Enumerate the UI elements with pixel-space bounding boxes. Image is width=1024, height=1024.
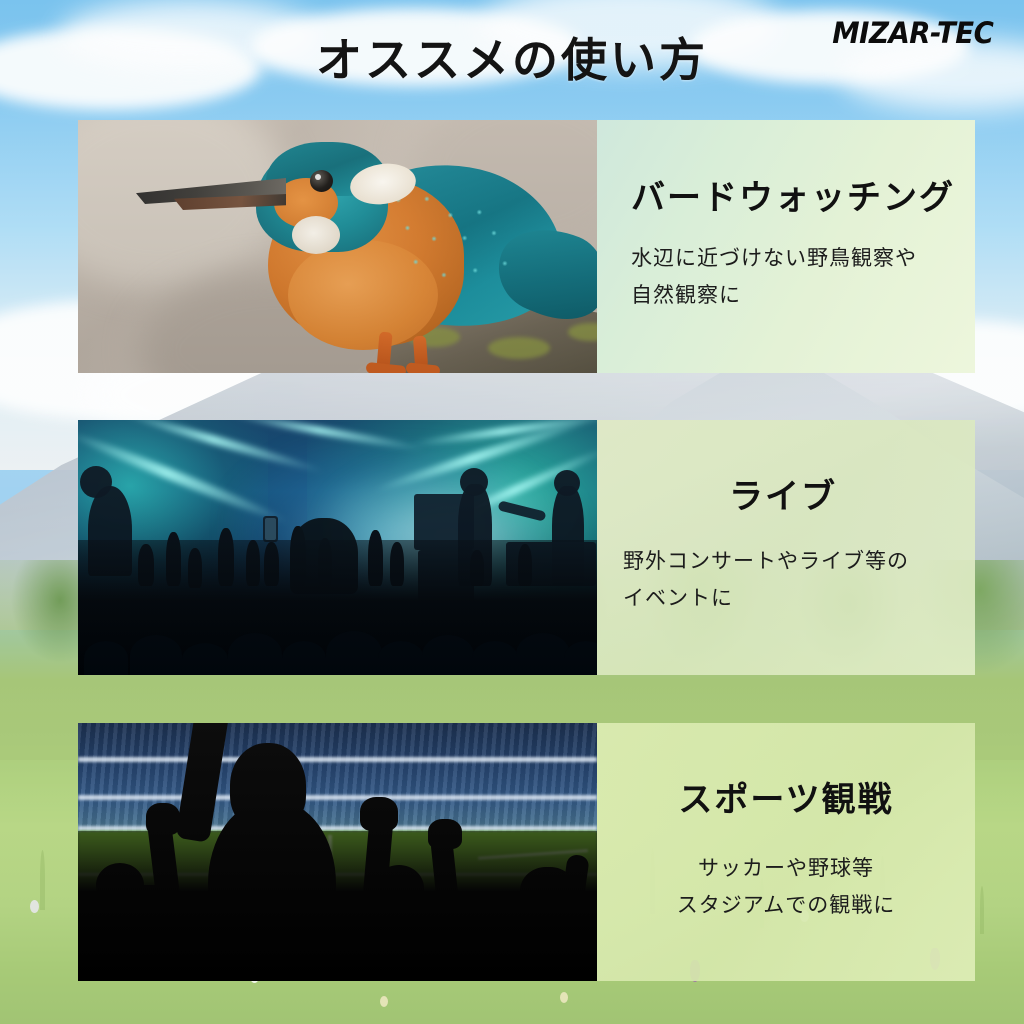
stadium-photo xyxy=(78,723,597,981)
card-text-panel: ライブ 野外コンサートやライブ等の イベントに xyxy=(597,420,975,675)
card-body-line: 自然観察に xyxy=(631,277,975,314)
card-body-line: 野外コンサートやライブ等の xyxy=(623,543,975,580)
usecase-card-birdwatching[interactable]: バードウォッチング 水辺に近づけない野鳥観察や 自然観察に xyxy=(78,120,975,373)
card-body-line: サッカーや野球等 xyxy=(619,850,953,887)
card-heading: バードウォッチング xyxy=(631,179,975,218)
live-concert-photo xyxy=(78,420,597,675)
card-heading: スポーツ観戦 xyxy=(619,781,953,820)
card-body-line: イベントに xyxy=(623,580,975,617)
usecase-card-sports[interactable]: スポーツ観戦 サッカーや野球等 スタジアムでの観戦に xyxy=(78,723,975,981)
poster-canvas: オススメの使い方 MIZAR-TEC xyxy=(0,0,1024,1024)
card-body-line: 水辺に近づけない野鳥観察や xyxy=(631,240,975,277)
brand-logo: MIZAR-TEC xyxy=(833,16,994,50)
card-text-panel: バードウォッチング 水辺に近づけない野鳥観察や 自然観察に xyxy=(597,120,975,373)
card-body: 水辺に近づけない野鳥観察や 自然観察に xyxy=(631,240,975,314)
card-heading: ライブ xyxy=(617,478,975,517)
card-body: 野外コンサートやライブ等の イベントに xyxy=(623,543,975,617)
card-text-panel: スポーツ観戦 サッカーや野球等 スタジアムでの観戦に xyxy=(597,723,975,981)
usecase-card-live[interactable]: ライブ 野外コンサートやライブ等の イベントに xyxy=(78,420,975,675)
card-body-line: スタジアムでの観戦に xyxy=(619,887,953,924)
kingfisher-photo xyxy=(78,120,597,373)
card-body: サッカーや野球等 スタジアムでの観戦に xyxy=(619,850,953,924)
